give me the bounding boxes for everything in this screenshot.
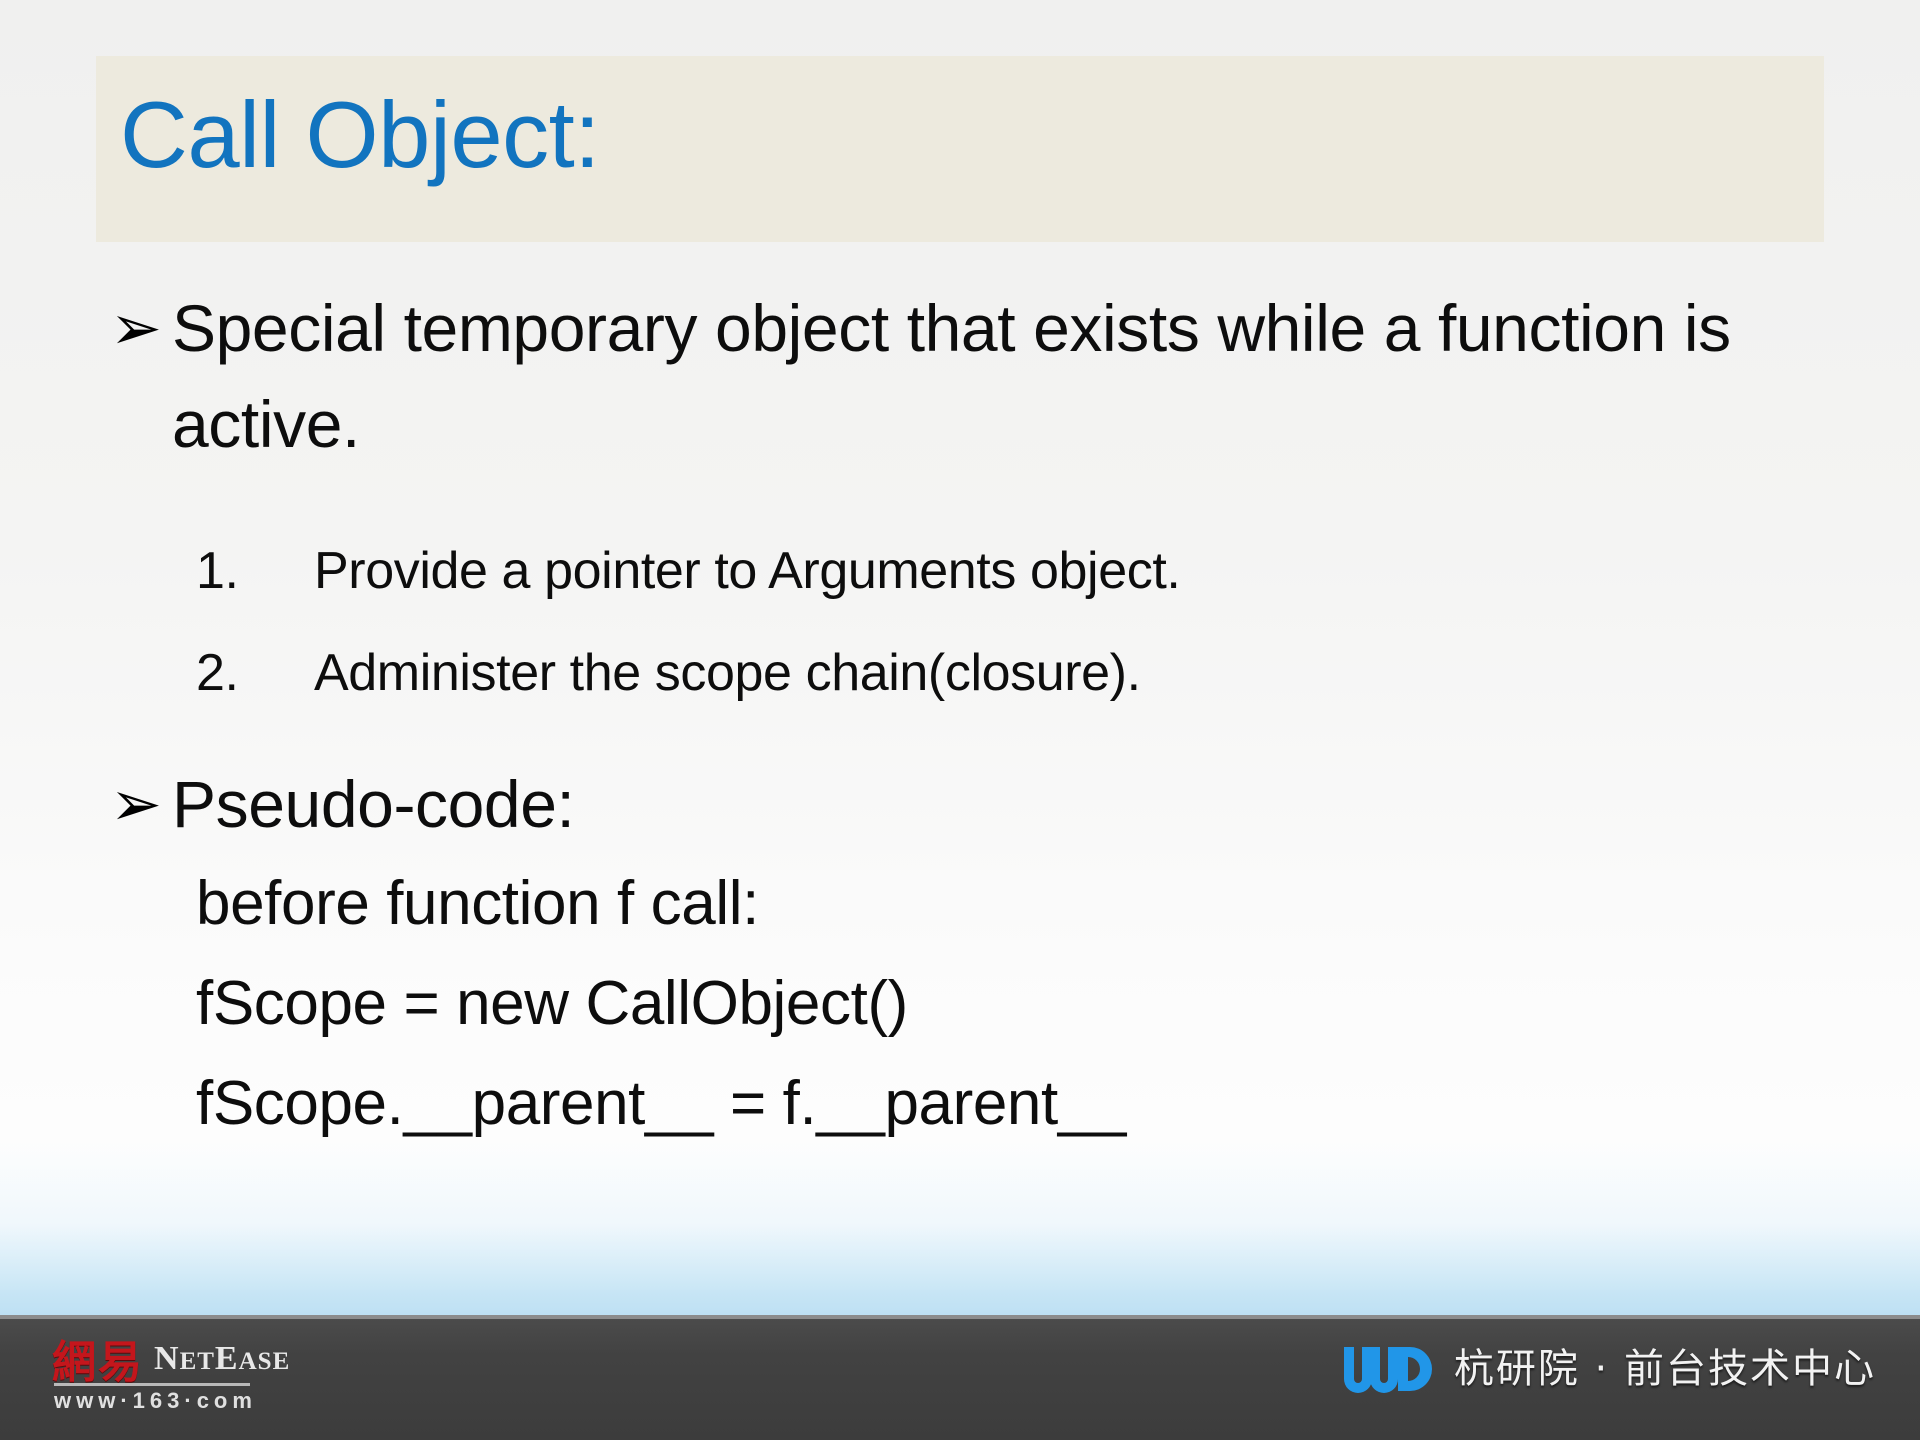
bullet-item-1: ➢ Special temporary object that exists w… — [0, 280, 1920, 472]
netease-url: www·163·com — [54, 1389, 290, 1413]
arrow-bullet-icon: ➢ — [110, 280, 172, 376]
bullet-item-2: ➢ Pseudo-code: — [0, 756, 1920, 852]
netease-latin-wordmark: NETEASE — [154, 1341, 290, 1380]
wd-logo-icon — [1340, 1339, 1432, 1399]
numbered-item-2-number: 2. — [196, 630, 314, 716]
numbered-item-1: 1. Provide a pointer to Arguments object… — [0, 528, 1920, 614]
bullet-item-2-text: Pseudo-code: — [172, 756, 574, 852]
slide-canvas: Call Object: ➢ Special temporary object … — [0, 0, 1920, 1440]
bullet-item-1-text: Special temporary object that exists whi… — [172, 280, 1772, 472]
numbered-item-1-number: 1. — [196, 528, 314, 614]
code-line-1: before function f call: — [196, 854, 1920, 954]
numbered-item-2-text: Administer the scope chain(closure). — [314, 630, 1141, 716]
arrow-bullet-icon: ➢ — [110, 756, 172, 852]
bottom-glow-decoration — [0, 1140, 1920, 1315]
spacer — [0, 472, 1920, 512]
netease-chinese-wordmark: 網易 — [52, 1341, 144, 1385]
numbered-item-1-text: Provide a pointer to Arguments object. — [314, 528, 1180, 614]
pseudo-code-block: before function f call: fScope = new Cal… — [0, 854, 1920, 1154]
netease-logo: 網易 NETEASE www·163·com — [52, 1341, 290, 1413]
numbered-item-2: 2. Administer the scope chain(closure). — [0, 630, 1920, 716]
slide-content: ➢ Special temporary object that exists w… — [0, 280, 1920, 1154]
code-line-2: fScope = new CallObject() — [196, 954, 1920, 1054]
department-logo: 杭研院 · 前台技术中心 — [1340, 1339, 1876, 1399]
netease-divider — [54, 1383, 250, 1386]
spacer — [0, 716, 1920, 756]
netease-latin-stack: NETEASE www·163·com — [154, 1341, 290, 1413]
page-title: Call Object: — [120, 88, 600, 182]
slide-footer: 網易 NETEASE www·163·com 杭研院 · 前台技术中心 — [0, 1315, 1920, 1440]
department-name: 杭研院 · 前台技术中心 — [1454, 1347, 1876, 1391]
code-line-3: fScope.__parent__ = f.__parent__ — [196, 1054, 1920, 1154]
